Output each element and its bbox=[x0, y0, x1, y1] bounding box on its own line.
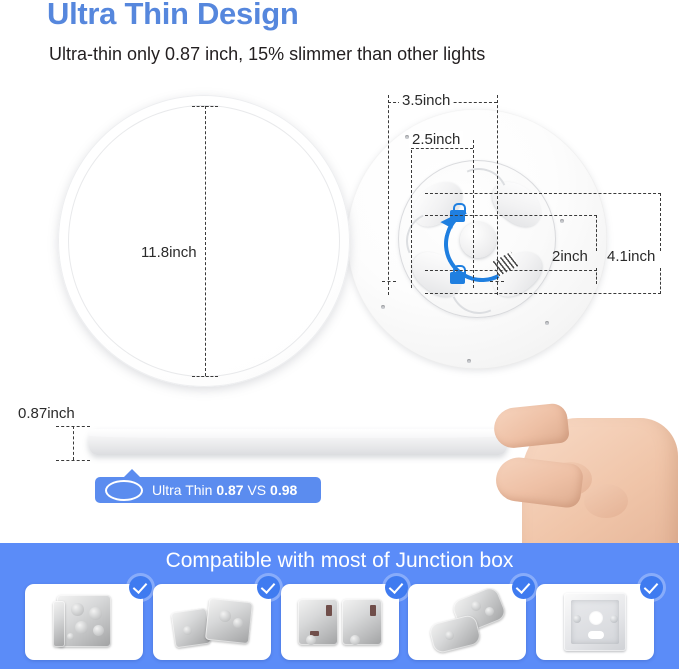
dim-arrow-mount-inner bbox=[411, 148, 473, 149]
junction-box-card[interactable] bbox=[536, 584, 654, 660]
check-icon bbox=[385, 576, 408, 599]
dim-label-diameter: 11.8inch bbox=[136, 244, 202, 261]
check-icon bbox=[512, 576, 535, 599]
ultra-thin-panel-edge bbox=[88, 429, 508, 455]
badge-text: Ultra Thin 0.87 VS 0.98 bbox=[152, 482, 297, 498]
compatibility-banner: Compatible with most of Junction box bbox=[0, 543, 679, 669]
oval-metal-junction-box-image bbox=[429, 593, 505, 651]
dim-label-thickness: 0.87inch bbox=[18, 405, 75, 422]
knuckle bbox=[584, 484, 628, 518]
check-icon bbox=[640, 576, 663, 599]
dim-label-mount-outer: 3.5inch bbox=[399, 92, 453, 109]
dim-tick bbox=[56, 460, 90, 461]
screw-dimple bbox=[560, 219, 564, 223]
dim-label-depth-small: 2inch bbox=[552, 248, 588, 265]
square-metal-junction-box-image bbox=[53, 593, 115, 651]
dim-tick bbox=[490, 281, 504, 282]
fixture-back-disc bbox=[347, 109, 607, 369]
dim-line-mount-inner-right bbox=[473, 140, 474, 288]
dim-leader-top-large bbox=[425, 193, 661, 194]
dim-line-depth-small-upper bbox=[596, 215, 597, 251]
dim-line-depth-large-lower bbox=[660, 268, 661, 294]
junction-box-card[interactable] bbox=[408, 584, 526, 660]
index-finger bbox=[492, 402, 570, 450]
dim-line-depth-large-upper bbox=[660, 193, 661, 251]
junction-box-card[interactable] bbox=[281, 584, 399, 660]
junction-box-card-row bbox=[25, 584, 654, 660]
thumb bbox=[494, 455, 585, 509]
screw-dimple bbox=[381, 305, 385, 309]
dim-tick bbox=[382, 281, 396, 282]
dim-line-depth-small-lower bbox=[596, 268, 597, 284]
page-title: Ultra Thin Design bbox=[47, 0, 299, 32]
white-plastic-junction-box-image bbox=[564, 593, 626, 651]
mounting-plate bbox=[398, 160, 556, 318]
dim-leader-bottom-large bbox=[425, 293, 661, 294]
dim-leader-bottom-small bbox=[425, 270, 597, 271]
dim-leader-top-small bbox=[425, 215, 597, 216]
check-icon bbox=[257, 576, 280, 599]
junction-box-card[interactable] bbox=[25, 584, 143, 660]
lock-open-icon bbox=[450, 210, 465, 222]
check-icon bbox=[129, 576, 152, 599]
two-metal-junction-boxes-image bbox=[173, 594, 251, 650]
dim-line-mount-outer-left bbox=[388, 95, 389, 295]
page-subtitle: Ultra-thin only 0.87 inch, 15% slimmer t… bbox=[49, 44, 485, 65]
ultra-thin-comparison-badge: Ultra Thin 0.87 VS 0.98 bbox=[95, 477, 321, 503]
double-gang-metal-boxes-image bbox=[298, 595, 382, 649]
dim-label-depth-large: 4.1inch bbox=[607, 248, 655, 265]
fixture-front-disc bbox=[58, 95, 350, 387]
lock-closed-icon bbox=[450, 272, 465, 284]
dim-label-mount-inner: 2.5inch bbox=[409, 131, 463, 148]
dim-line-diameter bbox=[205, 106, 206, 376]
banner-title: Compatible with most of Junction box bbox=[0, 549, 679, 573]
ellipse-outline-icon bbox=[105, 480, 143, 501]
dim-line-mount-inner-left bbox=[411, 140, 412, 288]
screw-dimple bbox=[467, 359, 471, 363]
screw-dimple bbox=[545, 321, 549, 325]
center-hub bbox=[460, 222, 496, 258]
dim-line-thickness bbox=[73, 426, 74, 460]
product-illustration: 11.8inch 3.5inch 2.5inch 2inch 4.1inch 0… bbox=[0, 78, 679, 533]
dim-tick bbox=[192, 376, 218, 377]
dim-line-mount-outer-right bbox=[497, 95, 498, 295]
junction-box-card[interactable] bbox=[153, 584, 271, 660]
